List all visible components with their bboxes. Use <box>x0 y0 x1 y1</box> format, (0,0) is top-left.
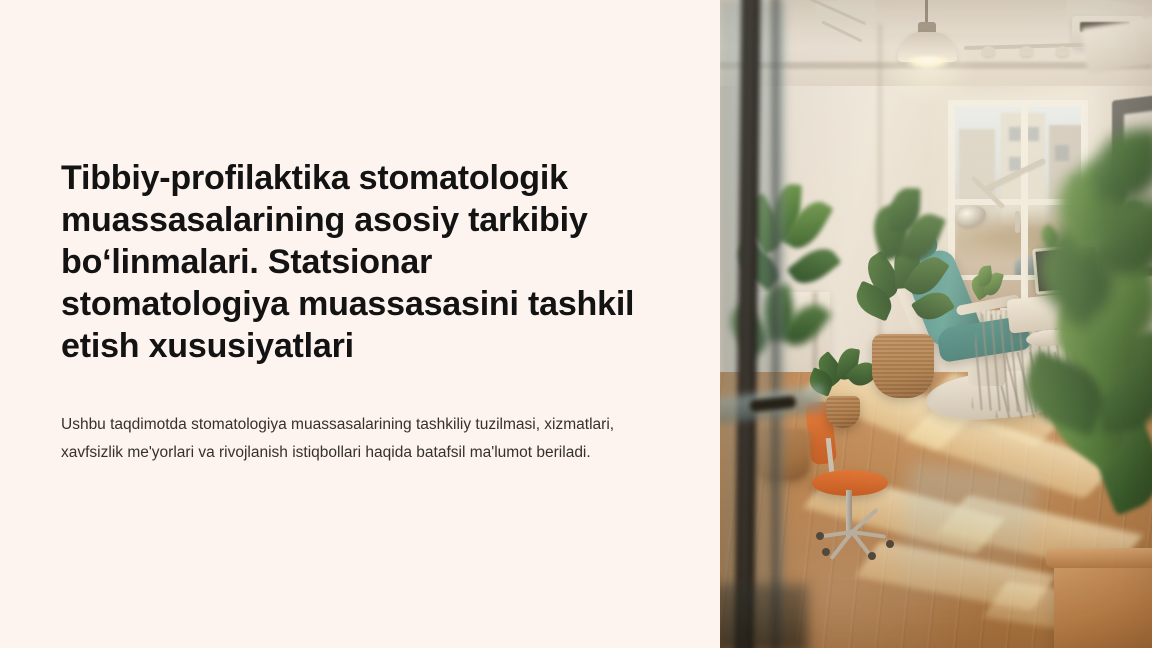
stool-base <box>816 528 892 554</box>
stool-caster <box>822 548 830 556</box>
foreground-plant-pot-rim <box>1046 548 1152 568</box>
track-light-head <box>982 46 995 56</box>
exterior-window <box>1009 127 1021 141</box>
slide-subtitle: Ushbu taqdimotda stomatologiya muassasal… <box>61 411 661 467</box>
stool-caster <box>886 540 894 548</box>
presentation-slide: Tibbiy-profilaktika stomatologik muassas… <box>0 0 1152 648</box>
exterior-window <box>1055 145 1069 161</box>
floor-cool-reflection <box>891 464 1039 648</box>
stool-caster <box>868 552 876 560</box>
window-mullion <box>1021 107 1028 308</box>
door-frame-secondary <box>772 0 781 648</box>
text-column: Tibbiy-profilaktika stomatologik muassas… <box>0 0 720 648</box>
track-light-head <box>1020 46 1033 56</box>
foreground-plant-pot <box>1054 556 1152 648</box>
track-light-head <box>1056 46 1069 56</box>
small-plant-pot <box>826 396 860 428</box>
clinic-photo <box>720 0 1152 648</box>
door-bottom-shadow <box>720 584 808 648</box>
photo-scene <box>720 0 1152 648</box>
basket-plant-pot <box>872 334 934 398</box>
slide-title: Tibbiy-profilaktika stomatologik muassas… <box>61 157 661 367</box>
exterior-window <box>1027 127 1039 141</box>
pendant-lamp-bulb <box>904 56 952 70</box>
window-handle <box>1015 211 1020 233</box>
stool-caster <box>816 532 824 540</box>
